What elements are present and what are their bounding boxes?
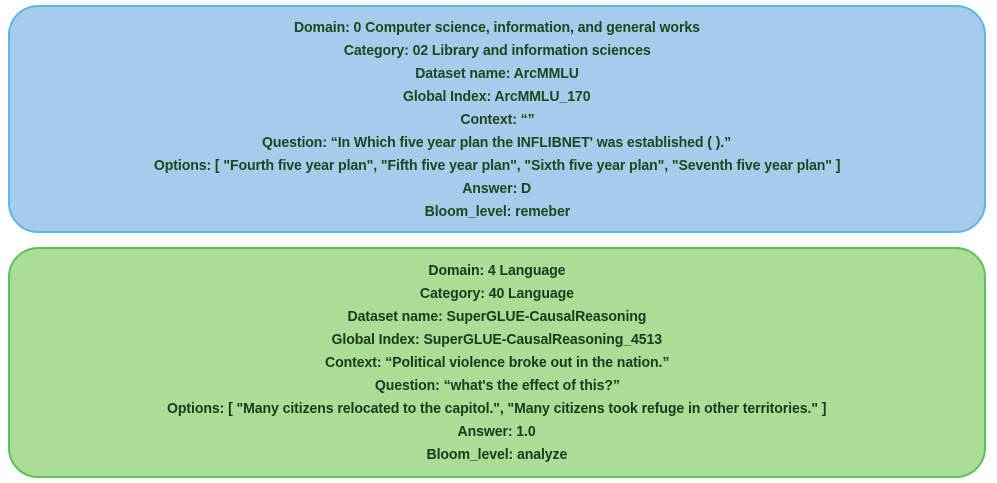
field-bloom-level: Bloom_level: analyze bbox=[427, 443, 568, 466]
sample-card-superglue-causalreasoning: Domain: 4 Language Category: 40 Language… bbox=[8, 247, 986, 478]
field-dataset-name: Dataset name: ArcMMLU bbox=[415, 62, 579, 85]
field-dataset-name: Dataset name: SuperGLUE-CausalReasoning bbox=[348, 305, 647, 328]
field-answer: Answer: 1.0 bbox=[458, 420, 536, 443]
sample-card-superglue-causalreasoning-lines: Domain: 4 Language Category: 40 Language… bbox=[10, 259, 984, 466]
field-domain: Domain: 0 Computer science, information,… bbox=[294, 16, 700, 39]
field-options: Options: [ "Many citizens relocated to t… bbox=[167, 397, 826, 420]
field-context: Context: “” bbox=[460, 108, 534, 131]
field-domain: Domain: 4 Language bbox=[429, 259, 566, 282]
field-global-index: Global Index: ArcMMLU_170 bbox=[403, 85, 591, 108]
field-category: Category: 02 Library and information sci… bbox=[344, 39, 651, 62]
field-question: Question: “what's the effect of this?” bbox=[375, 374, 620, 397]
field-bloom-level: Bloom_level: remeber bbox=[424, 200, 569, 223]
field-question: Question: “In Which five year plan the I… bbox=[262, 131, 731, 154]
field-answer: Answer: D bbox=[463, 177, 532, 200]
field-options: Options: [ "Fourth five year plan", "Fif… bbox=[154, 154, 840, 177]
sample-card-arcmmlu-lines: Domain: 0 Computer science, information,… bbox=[10, 16, 984, 223]
sample-card-arcmmlu: Domain: 0 Computer science, information,… bbox=[8, 5, 986, 233]
field-global-index: Global Index: SuperGLUE-CausalReasoning_… bbox=[332, 328, 662, 351]
field-category: Category: 40 Language bbox=[420, 282, 574, 305]
field-context: Context: “Political violence broke out i… bbox=[325, 351, 669, 374]
